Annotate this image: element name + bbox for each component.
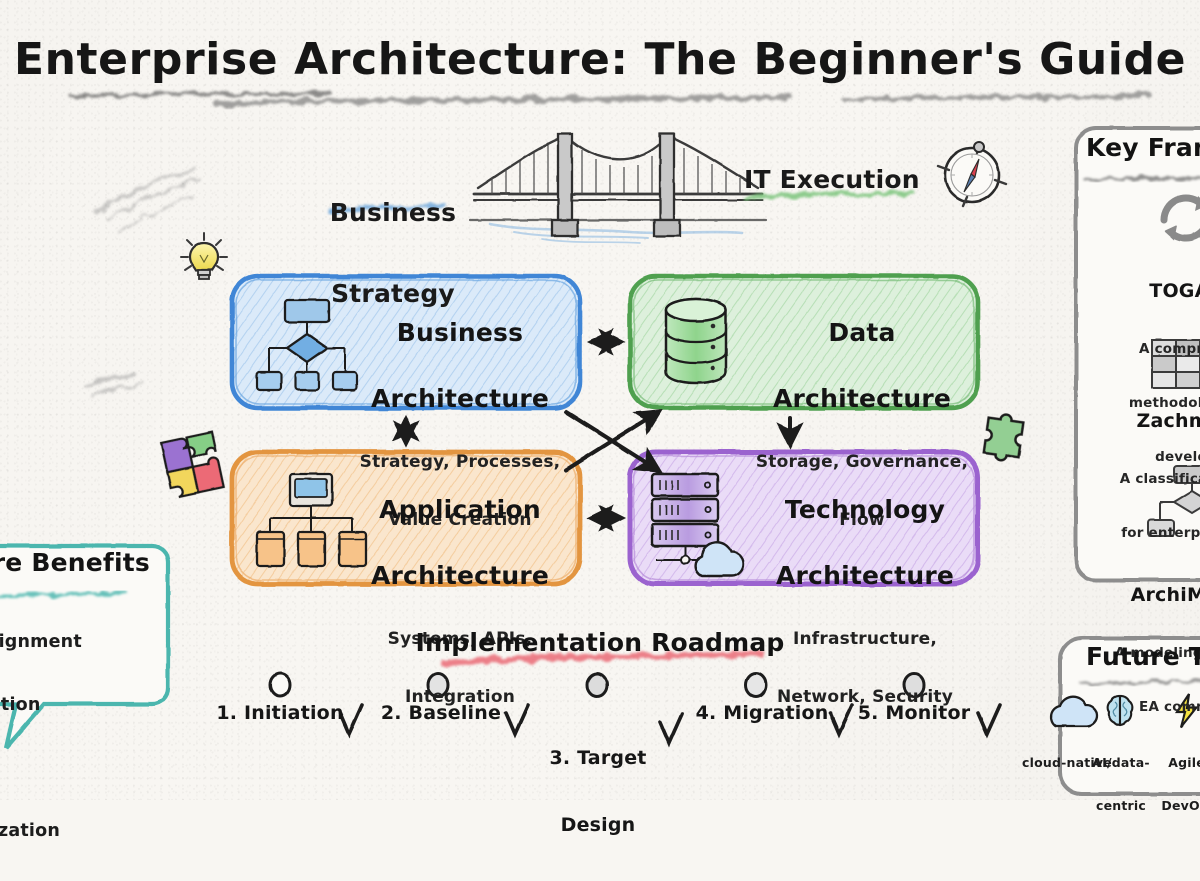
trend-caption-cloud-native: cloud-native	[1022, 727, 1094, 799]
roadmap-node	[587, 674, 607, 697]
framework-name: ArchiMate	[1086, 584, 1200, 606]
benefits-panel-list: Strategic Alignment Standardization Agil…	[0, 592, 162, 881]
page-title: Enterprise Architecture: The Beginner's …	[0, 34, 1200, 85]
framework-desc-line: A comprehensive	[1086, 341, 1200, 357]
roadmap-step-3[interactable]: 3. Target Design	[528, 702, 668, 881]
puzzle-pieces-icon	[161, 432, 224, 498]
benefit-item: Cost Optimization	[0, 819, 162, 844]
trend-caption-ai-data-centric: AI/data- centric	[1086, 727, 1156, 842]
title-underline	[72, 93, 1150, 104]
roadmap-step-4[interactable]: 4. Migration	[686, 702, 838, 724]
benefit-item: Standardization	[0, 693, 162, 718]
framework-desc-line: EA communication	[1086, 699, 1200, 715]
benefit-item: Agility	[0, 756, 162, 781]
roadmap-step-1[interactable]: 1. Initiation	[205, 702, 355, 724]
benefits-panel-title: Core Benefits	[0, 548, 150, 577]
suspension-bridge-icon	[470, 134, 766, 243]
framework-name: Zachman	[1086, 410, 1200, 432]
framework-desc-line: A classification schema	[1086, 471, 1200, 487]
whiteboard-canvas: Enterprise Architecture: The Beginner's …	[0, 0, 1200, 800]
future-trends-title: Future Trends	[1086, 642, 1200, 671]
puzzle-piece-green-icon	[983, 412, 1024, 462]
roadmap-step-5[interactable]: 5. Monitor	[843, 702, 985, 724]
diagram-graphics	[0, 0, 1200, 800]
roadmap-title: Implementation Roadmap	[400, 628, 800, 657]
smudge-mark	[86, 374, 142, 396]
compass-icon	[938, 142, 1006, 206]
roadmap-node	[270, 674, 290, 697]
framework-name: TOGAF	[1086, 280, 1200, 302]
benefit-item: Strategic Alignment	[0, 630, 162, 655]
frameworks-panel-title: Key Frameworks	[1086, 133, 1200, 162]
roadmap-step-2[interactable]: 2. Baseline	[366, 702, 516, 724]
framework-desc-line: for enterprise artifacts	[1086, 525, 1200, 541]
smudge-mark	[96, 170, 200, 232]
database-cylinder-icon	[666, 299, 726, 383]
lightbulb-icon	[181, 233, 227, 279]
it-execution-label: IT Execution	[744, 165, 920, 194]
trend-caption-agile-devops: Agile/ DevOps	[1154, 727, 1200, 842]
